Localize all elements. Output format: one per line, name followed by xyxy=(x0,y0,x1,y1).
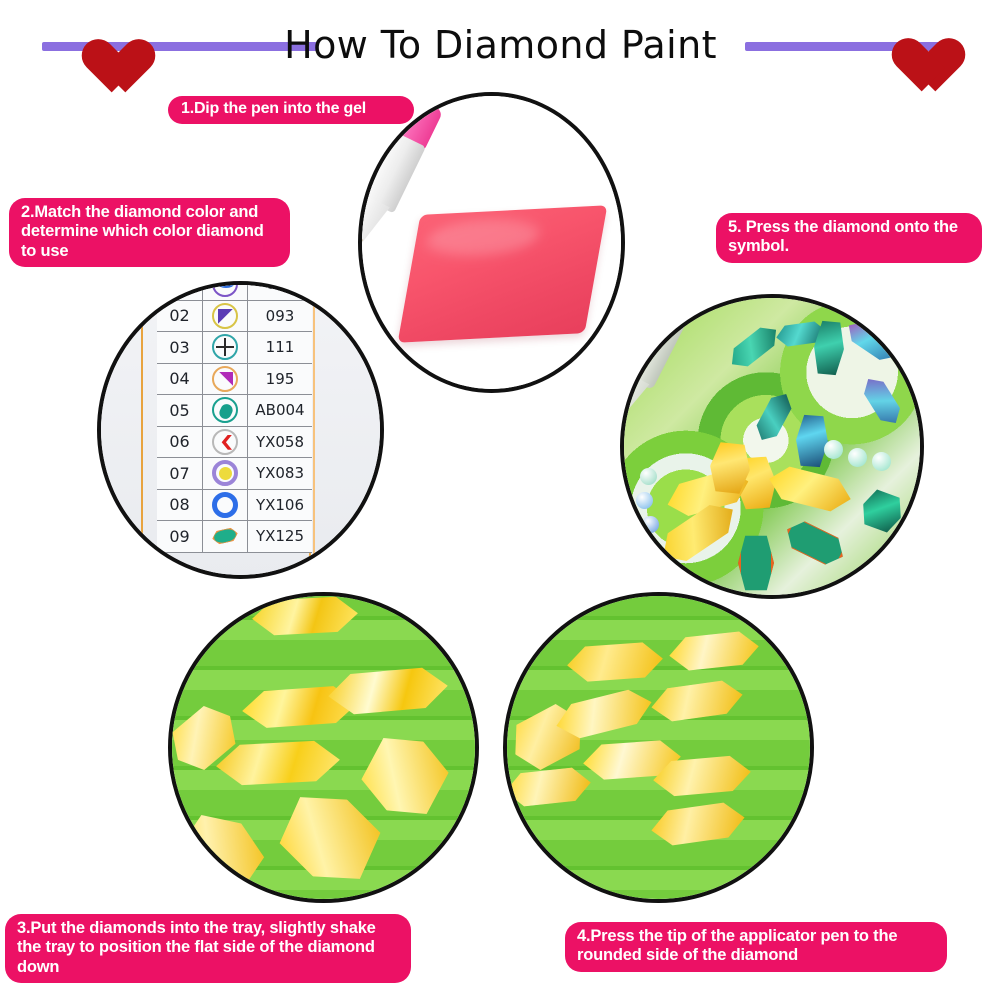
row-number: 06 xyxy=(157,432,202,451)
step-1-photo xyxy=(358,92,625,393)
row-code: 02x xyxy=(248,281,312,293)
row-number: 08 xyxy=(157,495,202,514)
infographic-canvas: How To Diamond Paint 1.Dip the pen into … xyxy=(0,0,1001,1001)
color-chart-table: 02x 02 093 03 111 04 195 xyxy=(157,281,312,553)
triangle-in-circle-icon xyxy=(202,301,248,332)
applicator-pen xyxy=(620,294,710,477)
row-number: 03 xyxy=(157,338,202,357)
table-row: 03 111 xyxy=(157,332,312,364)
table-row: 07 YX083 xyxy=(157,458,312,490)
row-code: YX058 xyxy=(248,433,312,451)
filled-dot-ring-icon xyxy=(202,458,248,489)
row-code: YX125 xyxy=(248,527,312,545)
page-title: How To Diamond Paint xyxy=(0,23,1001,67)
plus-in-circle-icon xyxy=(202,332,248,363)
capsule-in-circle-icon xyxy=(202,395,248,426)
step-3-label: 3.Put the diamonds into the tray, slight… xyxy=(5,914,411,983)
table-row: 04 195 xyxy=(157,364,312,396)
diamond-tray xyxy=(168,592,479,903)
open-ring-icon xyxy=(202,490,248,521)
triangle-corner-icon xyxy=(202,364,248,395)
pen-cone xyxy=(503,641,506,692)
row-code: AB004 xyxy=(248,401,312,419)
step-5-photo xyxy=(620,294,924,599)
table-row: 09 YX125 xyxy=(157,521,312,553)
table-row: 02 093 xyxy=(157,301,312,333)
step-3-photo xyxy=(168,592,479,903)
leaf-icon xyxy=(202,521,248,552)
row-code: YX083 xyxy=(248,464,312,482)
chevron-left-icon xyxy=(202,427,248,458)
gel-pad xyxy=(398,205,608,343)
pen-barrel xyxy=(503,592,567,669)
mandala-canvas xyxy=(620,294,924,599)
step-4-photo xyxy=(503,592,814,903)
eyes-icon xyxy=(202,281,248,300)
row-code: 195 xyxy=(248,370,312,388)
row-code: 093 xyxy=(248,307,312,325)
row-number: 09 xyxy=(157,527,202,546)
row-number: 04 xyxy=(157,369,202,388)
row-code: 111 xyxy=(248,338,312,356)
diamond-tray xyxy=(503,592,814,903)
table-row: 06 YX058 xyxy=(157,427,312,459)
table-row: 02x xyxy=(157,281,312,301)
color-chart-paper: 02x 02 093 03 111 04 195 xyxy=(97,281,384,579)
table-row: 05 AB004 xyxy=(157,395,312,427)
row-code: YX106 xyxy=(248,496,312,514)
step-2-photo: 02x 02 093 03 111 04 195 xyxy=(97,281,384,579)
row-number: 05 xyxy=(157,401,202,420)
row-number: 02 xyxy=(157,306,202,325)
step-5-label: 5. Press the diamond onto the symbol. xyxy=(716,213,982,263)
row-number: 07 xyxy=(157,464,202,483)
step-2-label: 2.Match the diamond color and determine … xyxy=(9,198,290,267)
step-4-label: 4.Press the tip of the applicator pen to… xyxy=(565,922,947,972)
table-row: 08 YX106 xyxy=(157,490,312,522)
